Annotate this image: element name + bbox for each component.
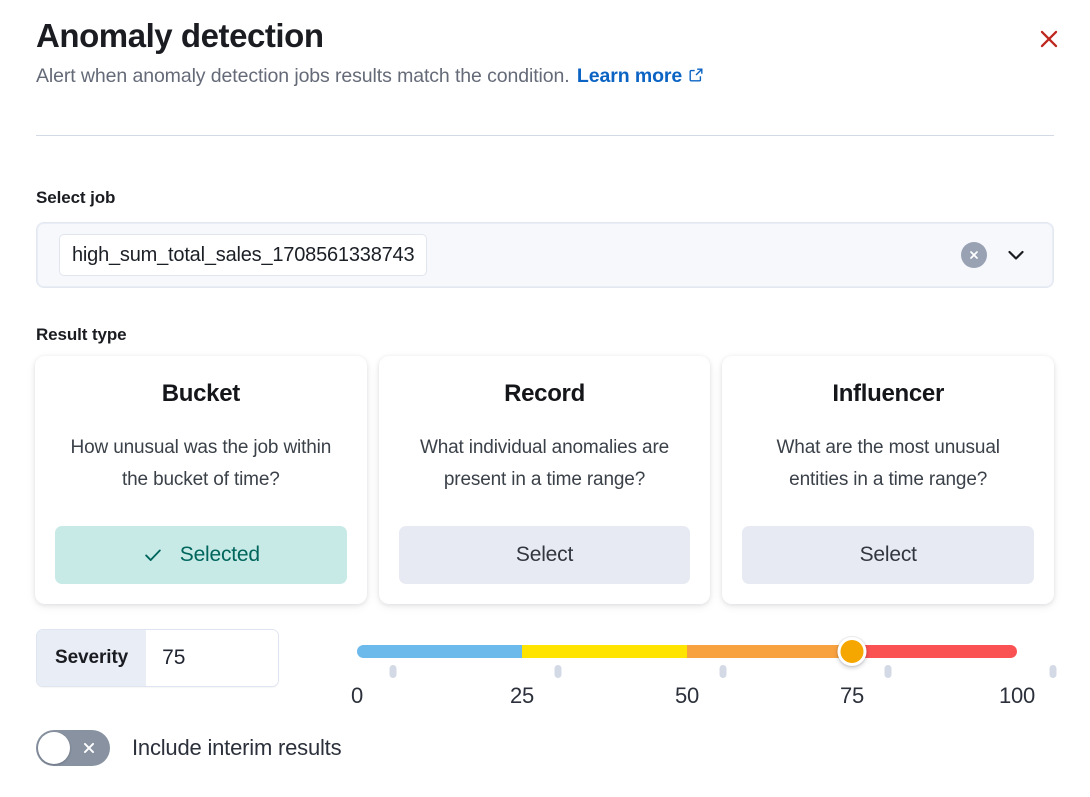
card-title-bucket: Bucket — [162, 378, 240, 410]
card-description-record: What individual anomalies are present in… — [405, 432, 685, 496]
slider-tick-mark — [1050, 665, 1057, 678]
slider-track[interactable] — [357, 645, 1017, 658]
select-button-influencer[interactable]: Select — [742, 526, 1034, 584]
slider-tick-mark — [555, 665, 562, 678]
header-divider — [36, 135, 1054, 136]
result-type-card-bucket[interactable]: Bucket How unusual was the job within th… — [35, 356, 367, 604]
slider-tick-marks — [357, 665, 1017, 679]
slider-thumb[interactable] — [838, 637, 867, 666]
select-button-label-influencer: Select — [860, 543, 917, 567]
slider-tick-labels: 0255075100 — [321, 681, 1054, 711]
card-description-bucket: How unusual was the job within the bucke… — [61, 432, 341, 496]
close-button[interactable] — [1032, 22, 1066, 56]
slider-tick-label: 75 — [840, 681, 864, 711]
result-type-card-record[interactable]: Record What individual anomalies are pre… — [379, 356, 711, 604]
card-title-influencer: Influencer — [832, 378, 944, 410]
page-title: Anomaly detection — [36, 16, 1054, 56]
result-type-cards: Bucket How unusual was the job within th… — [35, 356, 1054, 604]
select-job-label: Select job — [36, 186, 115, 210]
slider-segment — [522, 645, 687, 658]
toggle-knob — [38, 732, 70, 764]
severity-input[interactable] — [146, 630, 279, 686]
flyout-header: Anomaly detection Alert when anomaly det… — [36, 16, 1054, 90]
result-type-label: Result type — [36, 323, 127, 347]
select-button-record[interactable]: Select — [399, 526, 691, 584]
anomaly-detection-flyout: Anomaly detection Alert when anomaly det… — [0, 0, 1090, 797]
check-icon — [142, 544, 164, 566]
close-icon — [1036, 26, 1062, 52]
slider-tick-mark — [390, 665, 397, 678]
slider-tick-mark — [885, 665, 892, 678]
severity-row: Severity 0255075100 — [36, 629, 1054, 687]
card-title-record: Record — [504, 378, 585, 410]
include-interim-results-toggle[interactable] — [36, 730, 110, 766]
severity-field[interactable]: Severity — [36, 629, 279, 687]
select-button-bucket[interactable]: Selected — [55, 526, 347, 584]
toggle-off-icon — [80, 739, 98, 757]
chevron-down-icon[interactable] — [1003, 242, 1029, 268]
select-button-label-bucket: Selected — [180, 543, 260, 567]
slider-segment — [357, 645, 522, 658]
interim-results-row: Include interim results — [36, 730, 341, 766]
slider-segment — [852, 645, 1017, 658]
external-link-icon — [688, 67, 704, 83]
learn-more-link[interactable]: Learn more — [577, 65, 682, 87]
severity-slider[interactable]: 0255075100 — [321, 629, 1054, 713]
slider-tick-label: 25 — [510, 681, 534, 711]
card-description-influencer: What are the most unusual entities in a … — [748, 432, 1028, 496]
select-button-label-record: Select — [516, 543, 573, 567]
selected-job-pill[interactable]: high_sum_total_sales_1708561338743 — [59, 234, 427, 276]
slider-tick-mark — [720, 665, 727, 678]
slider-tick-label: 0 — [351, 681, 363, 711]
page-subtitle-text: Alert when anomaly detection jobs result… — [36, 65, 570, 87]
slider-tick-label: 50 — [675, 681, 699, 711]
clear-selection-icon[interactable] — [961, 242, 987, 268]
include-interim-results-label: Include interim results — [132, 733, 341, 763]
select-job-combobox[interactable]: high_sum_total_sales_1708561338743 — [36, 222, 1054, 288]
severity-label: Severity — [37, 630, 146, 686]
page-subtitle: Alert when anomaly detection jobs result… — [36, 62, 1054, 90]
slider-segment — [687, 645, 852, 658]
combobox-actions — [961, 242, 1039, 268]
slider-tick-label: 100 — [999, 681, 1035, 711]
result-type-card-influencer[interactable]: Influencer What are the most unusual ent… — [722, 356, 1054, 604]
